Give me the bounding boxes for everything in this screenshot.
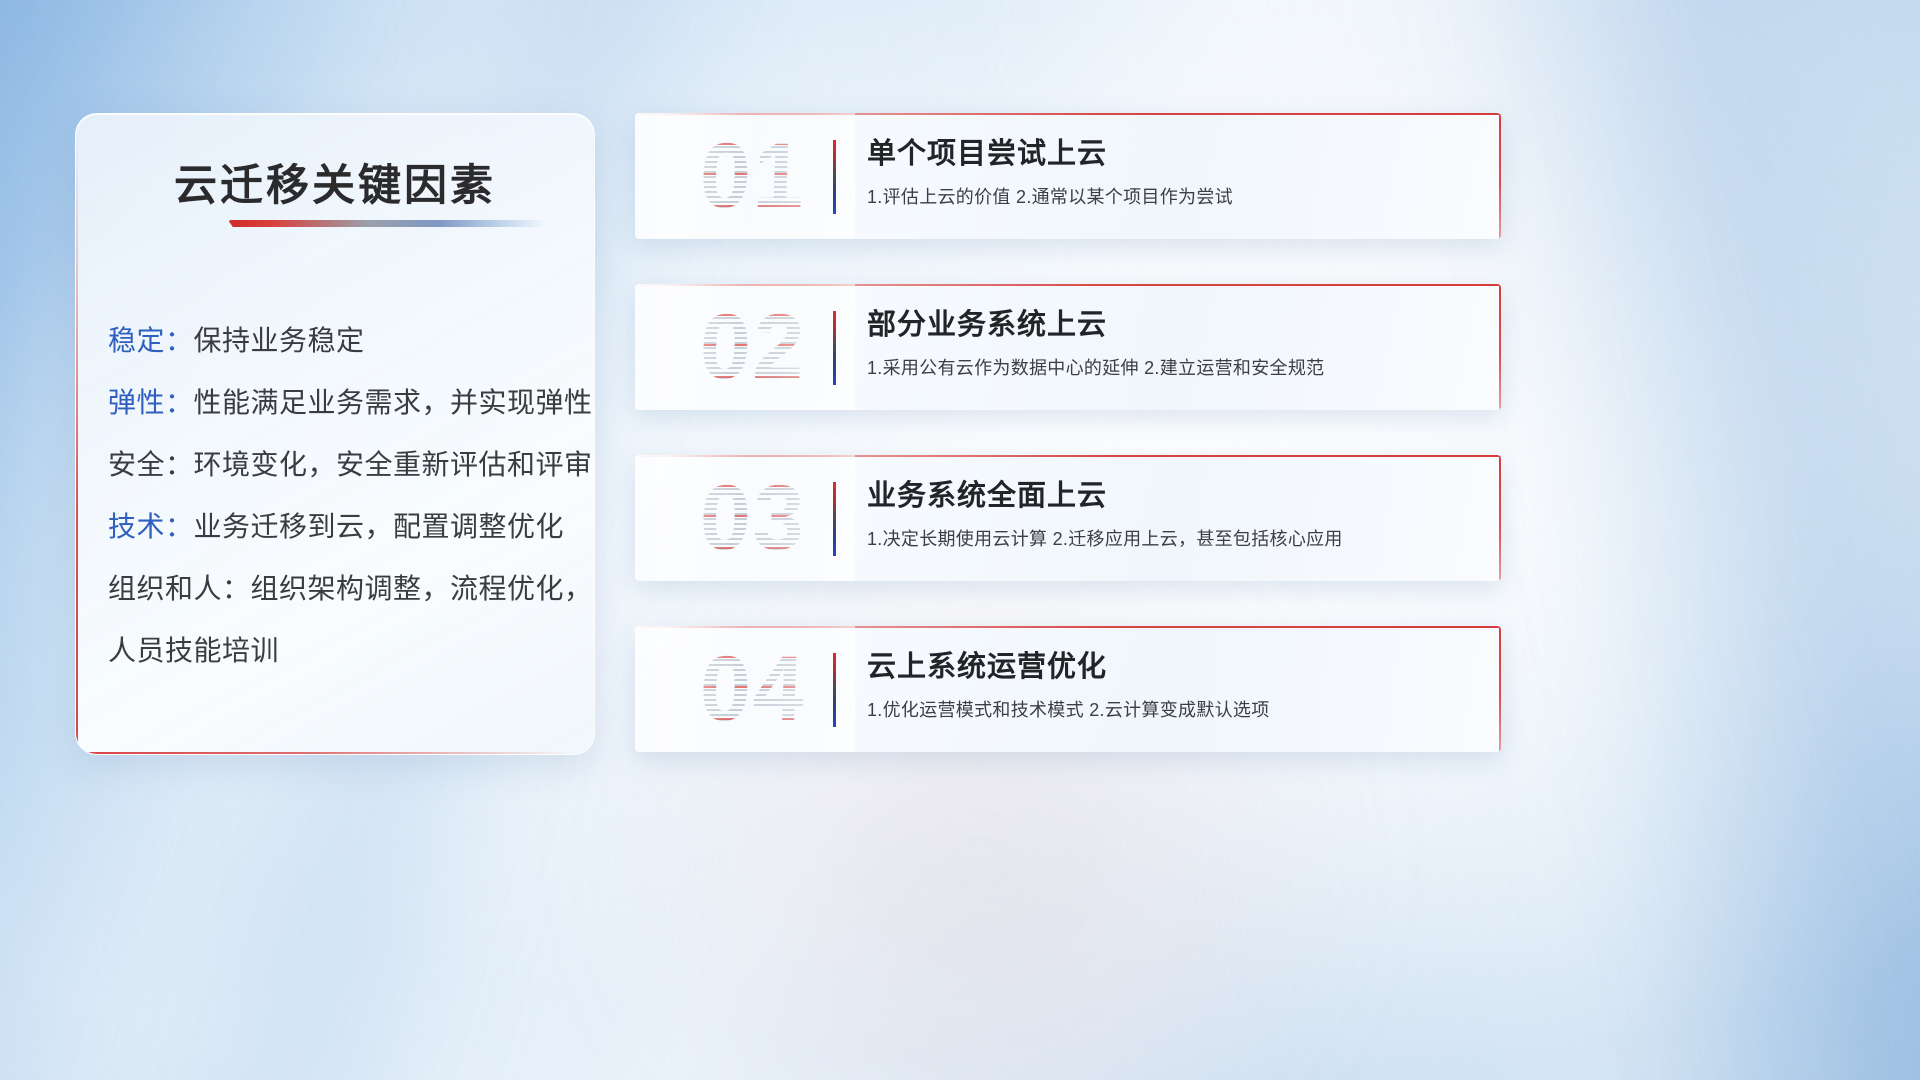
stage-subtitle: 1.决定长期使用云计算 2.迁移应用上云，甚至包括核心应用 [867,525,1461,551]
stage-body: 业务系统全面上云1.决定长期使用云计算 2.迁移应用上云，甚至包括核心应用 [867,475,1461,551]
stage-body: 部分业务系统上云1.采用公有云作为数据中心的延伸 2.建立运营和安全规范 [867,304,1461,380]
stage-subtitle: 1.评估上云的价值 2.通常以某个项目作为尝试 [867,183,1461,209]
stage-subtitle: 1.采用公有云作为数据中心的延伸 2.建立运营和安全规范 [867,354,1461,380]
stage-number-accent: 02 [661,292,845,402]
factor-text: 组织架构调整，流程优化， [251,573,593,604]
factor-text: 性能满足业务需求，并实现弹性 [194,387,593,418]
factor-text: 保持业务稳定 [194,325,365,356]
stage-number-accent: 04 [661,634,845,744]
stage-divider-bar [833,311,836,385]
stage-divider-bar [833,140,836,214]
stage-title: 单个项目尝试上云 [867,133,1461,175]
stage-title: 云上系统运营优化 [867,646,1461,688]
stage-card[interactable]: 0101单个项目尝试上云1.评估上云的价值 2.通常以某个项目作为尝试 [635,113,1501,239]
factor-row: 稳定：保持业务稳定 [108,310,570,372]
factor-label: 技术： [108,511,194,542]
factor-text: 业务迁移到云，配置调整优化 [194,511,565,542]
title-underline-rule [228,220,546,227]
stage-card[interactable]: 0202部分业务系统上云1.采用公有云作为数据中心的延伸 2.建立运营和安全规范 [635,284,1501,410]
key-factors-panel: 云迁移关键因素 稳定：保持业务稳定弹性：性能满足业务需求，并实现弹性安全：环境变… [75,113,595,755]
factor-text: 环境变化，安全重新评估和评审 [194,449,593,480]
stage-title: 业务系统全面上云 [867,475,1461,517]
factor-row: 技术：业务迁移到云，配置调整优化 [108,496,570,558]
panel-title: 云迁移关键因素 [76,151,594,213]
factor-label: 稳定： [108,325,194,356]
stages-card-list: 0101单个项目尝试上云1.评估上云的价值 2.通常以某个项目作为尝试0202部… [635,113,1501,752]
stage-number-accent: 01 [661,121,845,231]
stage-card[interactable]: 0404云上系统运营优化1.优化运营模式和技术模式 2.云计算变成默认选项 [635,626,1501,752]
stage-subtitle: 1.优化运营模式和技术模式 2.云计算变成默认选项 [867,696,1461,722]
stage-body: 云上系统运营优化1.优化运营模式和技术模式 2.云计算变成默认选项 [867,646,1461,722]
factor-label: 弹性： [108,387,194,418]
stage-card[interactable]: 0303业务系统全面上云1.决定长期使用云计算 2.迁移应用上云，甚至包括核心应… [635,455,1501,581]
factor-list: 稳定：保持业务稳定弹性：性能满足业务需求，并实现弹性安全：环境变化，安全重新评估… [108,310,570,682]
factor-label: 组织和人： [108,573,251,604]
factor-row: 安全：环境变化，安全重新评估和评审 [108,434,570,496]
stage-number-accent: 03 [661,463,845,573]
factor-label: 安全： [108,449,194,480]
stage-title: 部分业务系统上云 [867,304,1461,346]
stage-divider-bar [833,482,836,556]
factor-text: 人员技能培训 [108,635,279,666]
stage-body: 单个项目尝试上云1.评估上云的价值 2.通常以某个项目作为尝试 [867,133,1461,209]
factor-row: 弹性：性能满足业务需求，并实现弹性 [108,372,570,434]
stage-divider-bar [833,653,836,727]
factor-row: 人员技能培训 [108,620,570,682]
factor-row: 组织和人：组织架构调整，流程优化， [108,558,570,620]
